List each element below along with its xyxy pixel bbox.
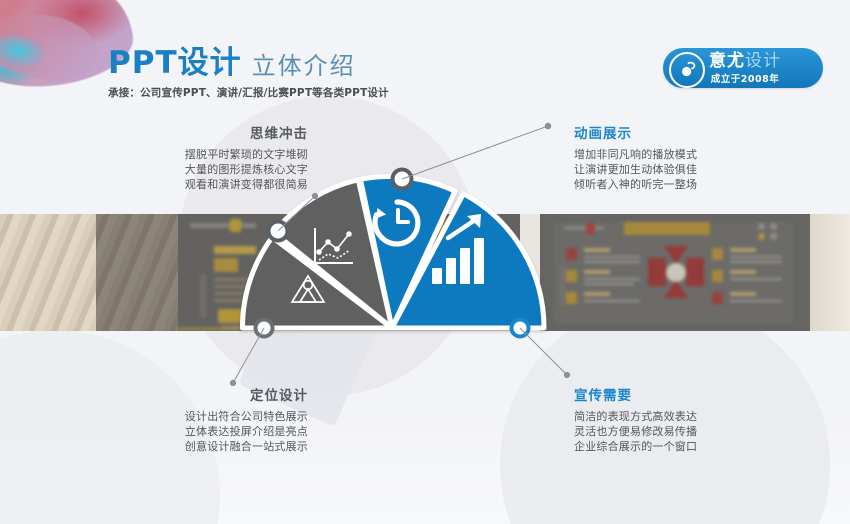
title-subtitle: 立体介绍 bbox=[252, 46, 356, 81]
callout-top-left: 思维冲击 摆脱平时繁琐的文字堆砌 大量的图形提炼核心文字 观看和演讲变得都很简易 bbox=[86, 122, 308, 192]
callout-heading: 动画展示 bbox=[574, 122, 804, 142]
logo-established: 成立于2008年 bbox=[709, 71, 781, 85]
callout-line: 设计出符合公司特色展示 bbox=[82, 409, 308, 424]
callout-line: 摆脱平时繁琐的文字堆砌 bbox=[86, 147, 308, 162]
logo-name-bold: 意尤 bbox=[709, 51, 745, 71]
callout-heading: 思维冲击 bbox=[86, 122, 308, 142]
connector-node-bottom-right[interactable] bbox=[512, 320, 529, 337]
callout-line: 灵活也方便易修改易传播 bbox=[574, 424, 804, 439]
callout-line: 创意设计融合一站式展示 bbox=[82, 439, 308, 454]
callout-bottom-right: 宣传需要 简洁的表现方式高效表达 灵活也方便易修改易传播 企业综合展示的一个窗口 bbox=[574, 384, 804, 454]
callout-line: 简洁的表现方式高效表达 bbox=[574, 409, 804, 424]
callout-line: 观看和演讲变得都很简易 bbox=[86, 177, 308, 192]
mouse-badge-icon bbox=[669, 52, 705, 88]
callout-line: 倾听者入神的听完一整场 bbox=[574, 177, 804, 192]
ppt-thumbnail-right bbox=[540, 214, 810, 331]
connector-node-top-left[interactable] bbox=[269, 222, 288, 241]
connector-node-top-right[interactable] bbox=[393, 170, 412, 189]
brand-logo[interactable]: 意尤设计 成立于2008年 bbox=[663, 48, 823, 88]
callout-line: 企业综合展示的一个窗口 bbox=[574, 439, 804, 454]
callout-heading: 宣传需要 bbox=[574, 384, 804, 404]
wood-texture-left-dark bbox=[96, 214, 178, 331]
callout-line: 增加非同凡响的播放模式 bbox=[574, 147, 804, 162]
wall-texture-right bbox=[810, 214, 850, 331]
slide-canvas: PPT设计立体介绍 承接：公司宣传PPT、演讲/汇报/比赛PPT等各类PPT设计… bbox=[0, 0, 850, 524]
callout-top-right: 动画展示 增加非同凡响的播放模式 让演讲更加生动体验俱佳 倾听者入神的听完一整场 bbox=[574, 122, 804, 192]
page-title: PPT设计立体介绍 bbox=[108, 46, 356, 81]
callout-heading: 定位设计 bbox=[82, 384, 308, 404]
connector-node-bottom-left[interactable] bbox=[256, 320, 273, 337]
logo-text: 意尤设计 成立于2008年 bbox=[709, 52, 781, 85]
title-description: 承接：公司宣传PPT、演讲/汇报/比赛PPT等各类PPT设计 bbox=[108, 85, 389, 100]
callout-line: 立体表达投屏介绍是亮点 bbox=[82, 424, 308, 439]
callout-line: 大量的图形提炼核心文字 bbox=[86, 162, 308, 177]
callout-bottom-left: 定位设计 设计出符合公司特色展示 立体表达投屏介绍是亮点 创意设计融合一站式展示 bbox=[82, 384, 308, 454]
callout-line: 让演讲更加生动体验俱佳 bbox=[574, 162, 804, 177]
title-main: PPT设计 bbox=[108, 48, 242, 79]
logo-name-light: 设计 bbox=[745, 51, 781, 71]
